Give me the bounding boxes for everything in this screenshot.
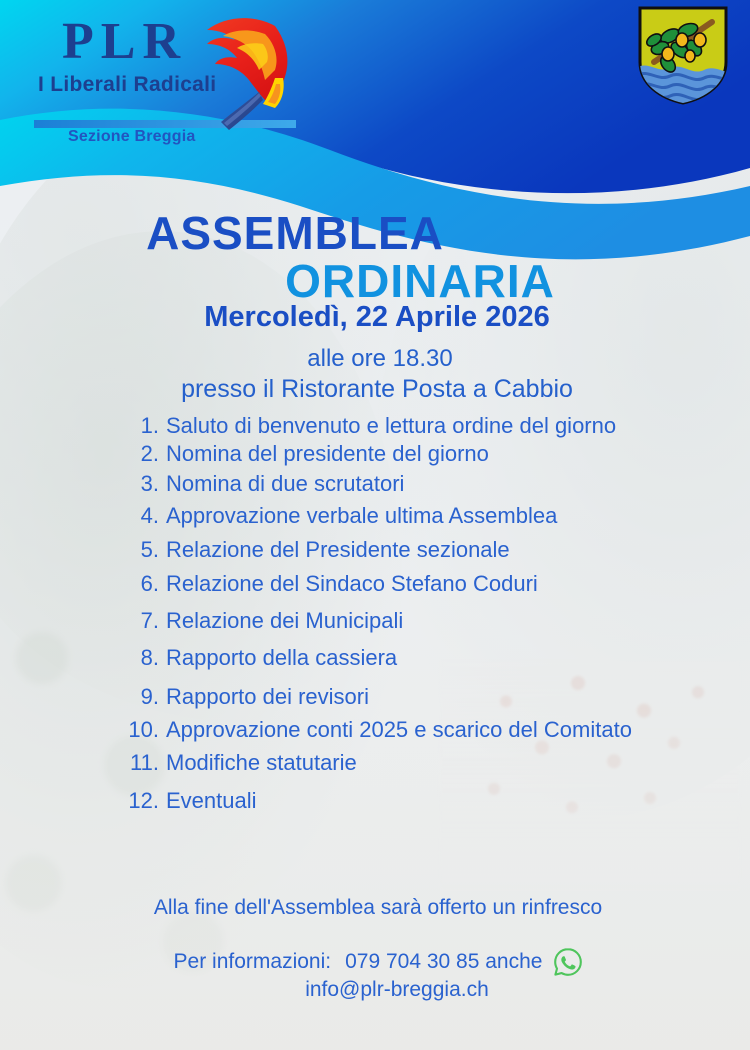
list-item: 1. Saluto di benvenuto e lettura ordine … (118, 414, 698, 439)
list-item: 11. Modifiche statutarie (118, 751, 698, 776)
agenda-text: Approvazione conti 2025 e scarico del Co… (166, 718, 698, 743)
agenda-number: 6. (118, 572, 166, 597)
agenda-text: Relazione del Presidente sezionale (166, 538, 698, 563)
agenda-text: Eventuali (166, 789, 698, 814)
agenda-number: 4. (118, 504, 166, 529)
agenda-number: 9. (118, 685, 166, 710)
list-item: 7. Relazione dei Municipali (118, 609, 698, 634)
agenda-text: Modifiche statutarie (166, 751, 698, 776)
poster-canvas: PLR I Liberali Radicali Sezione Breggia (0, 0, 750, 1050)
contact-info-row: Per informazioni: 079 704 30 85 anche (0, 946, 750, 978)
agenda-number: 1. (118, 414, 166, 439)
list-item: 6. Relazione del Sindaco Stefano Coduri (118, 572, 698, 597)
page-title-primary: ASSEMBLEA (0, 210, 750, 256)
section-name: Sezione Breggia (68, 129, 195, 145)
list-item: 12. Eventuali (118, 789, 698, 814)
list-item: 3. Nomina di due scrutatori (118, 472, 698, 497)
agenda-number: 12. (118, 789, 166, 814)
event-time: alle ore 18.30 (0, 347, 750, 371)
page-title-secondary: ORDINARIA (0, 258, 750, 304)
refreshment-note: Alla fine dell'Assemblea sarà offerto un… (0, 896, 750, 920)
plr-abbreviation: PLR (62, 16, 187, 68)
agenda-number: 7. (118, 609, 166, 634)
agenda-text: Nomina di due scrutatori (166, 472, 698, 497)
list-item: 2. Nomina del presidente del giorno (118, 442, 698, 467)
agenda-text: Relazione dei Municipali (166, 609, 698, 634)
contact-email[interactable]: info@plr-breggia.ch (0, 978, 750, 1002)
torch-flame-icon (179, 8, 304, 133)
event-date: Mercoledì, 22 Aprile 2026 (0, 303, 750, 332)
info-label: Per informazioni: (174, 950, 332, 974)
agenda-number: 11. (118, 751, 166, 776)
agenda-number: 8. (118, 646, 166, 671)
agenda-number: 5. (118, 538, 166, 563)
agenda-number: 3. (118, 472, 166, 497)
list-item: 10. Approvazione conti 2025 e scarico de… (118, 718, 698, 743)
plr-logo: PLR I Liberali Radicali Sezione Breggia (34, 8, 374, 148)
agenda-number: 10. (118, 718, 166, 743)
list-item: 8. Rapporto della cassiera (118, 646, 698, 671)
agenda-text: Nomina del presidente del giorno (166, 442, 698, 467)
list-item: 4. Approvazione verbale ultima Assemblea (118, 504, 698, 529)
agenda-number: 2. (118, 442, 166, 467)
event-venue: presso il Ristorante Posta a Cabbio (0, 377, 750, 402)
breggia-coat-of-arms-icon (634, 4, 732, 106)
agenda-text: Rapporto dei revisori (166, 685, 698, 710)
list-item: 9. Rapporto dei revisori (118, 685, 698, 710)
agenda-text: Relazione del Sindaco Stefano Coduri (166, 572, 698, 597)
list-item: 5. Relazione del Presidente sezionale (118, 538, 698, 563)
contact-phone[interactable]: 079 704 30 85 anche (345, 950, 542, 974)
agenda-text: Approvazione verbale ultima Assemblea (166, 504, 698, 529)
agenda-text: Rapporto della cassiera (166, 646, 698, 671)
agenda-text: Saluto di benvenuto e lettura ordine del… (166, 414, 698, 439)
whatsapp-icon[interactable] (552, 946, 584, 978)
agenda-list: 1. Saluto di benvenuto e lettura ordine … (118, 414, 698, 814)
